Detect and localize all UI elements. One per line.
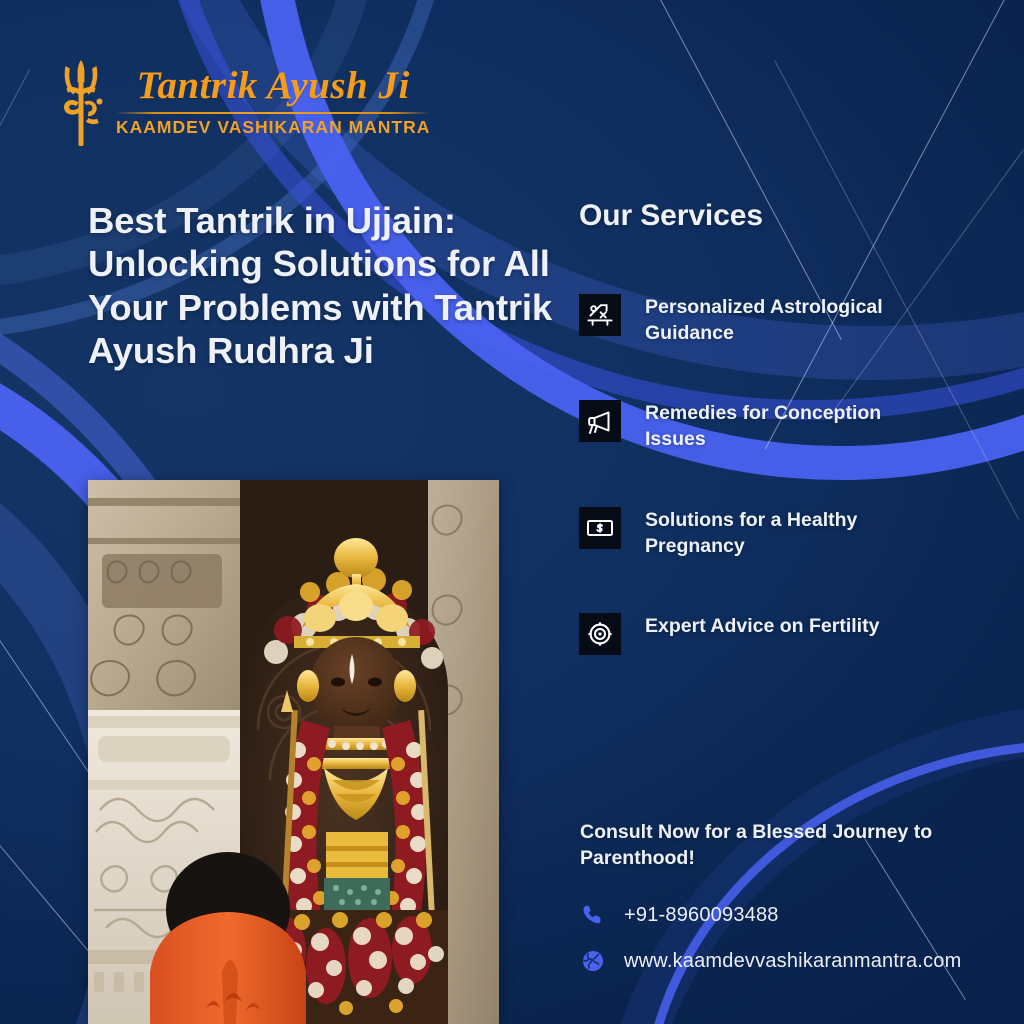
service-item-label: Remedies for Conception Issues — [645, 400, 913, 453]
brand-logo-text: Tantrik Ayush Ji KAAMDEV VASHIKARAN MANT… — [116, 66, 430, 138]
megaphone-icon — [579, 400, 621, 442]
phone-number: +91-8960093488 — [624, 904, 779, 927]
money-bill-dollar-icon — [579, 507, 621, 549]
deity-photo — [88, 480, 499, 1024]
poster-canvas: Tantrik Ayush Ji KAAMDEV VASHIKARAN MANT… — [0, 0, 1024, 1024]
cta-text: Consult Now for a Blessed Journey to Par… — [580, 820, 980, 872]
contact-phone[interactable]: +91-8960093488 — [580, 902, 779, 928]
service-item-fertility-advice[interactable]: Expert Advice on Fertility — [579, 613, 913, 655]
contact-website[interactable]: www.kaamdevvashikaranmantra.com — [580, 948, 961, 974]
brand-divider — [116, 112, 430, 114]
trishul-om-icon — [52, 56, 110, 148]
service-item-label: Personalized Astrological Guidance — [645, 294, 913, 347]
service-item-label: Expert Advice on Fertility — [645, 613, 913, 640]
strategy-board-percent-icon — [579, 294, 621, 336]
page-title: Best Tantrik in Ujjain: Unlocking Soluti… — [88, 199, 558, 373]
brand-tagline: KAAMDEV VASHIKARAN MANTRA — [116, 117, 430, 138]
website-url: www.kaamdevvashikaranmantra.com — [624, 950, 961, 973]
brand-name: Tantrik Ayush Ji — [137, 66, 410, 107]
globe-icon — [580, 948, 606, 974]
brand-logo[interactable]: Tantrik Ayush Ji KAAMDEV VASHIKARAN MANT… — [52, 56, 430, 148]
target-crosshair-icon — [579, 613, 621, 655]
service-item-label: Solutions for a Healthy Pregnancy — [645, 507, 913, 560]
phone-icon — [580, 902, 606, 928]
service-item-healthy-pregnancy[interactable]: Solutions for a Healthy Pregnancy — [579, 507, 913, 560]
service-item-conception-remedies[interactable]: Remedies for Conception Issues — [579, 400, 913, 453]
service-item-astrological-guidance[interactable]: Personalized Astrological Guidance — [579, 294, 913, 347]
services-heading: Our Services — [579, 199, 763, 233]
